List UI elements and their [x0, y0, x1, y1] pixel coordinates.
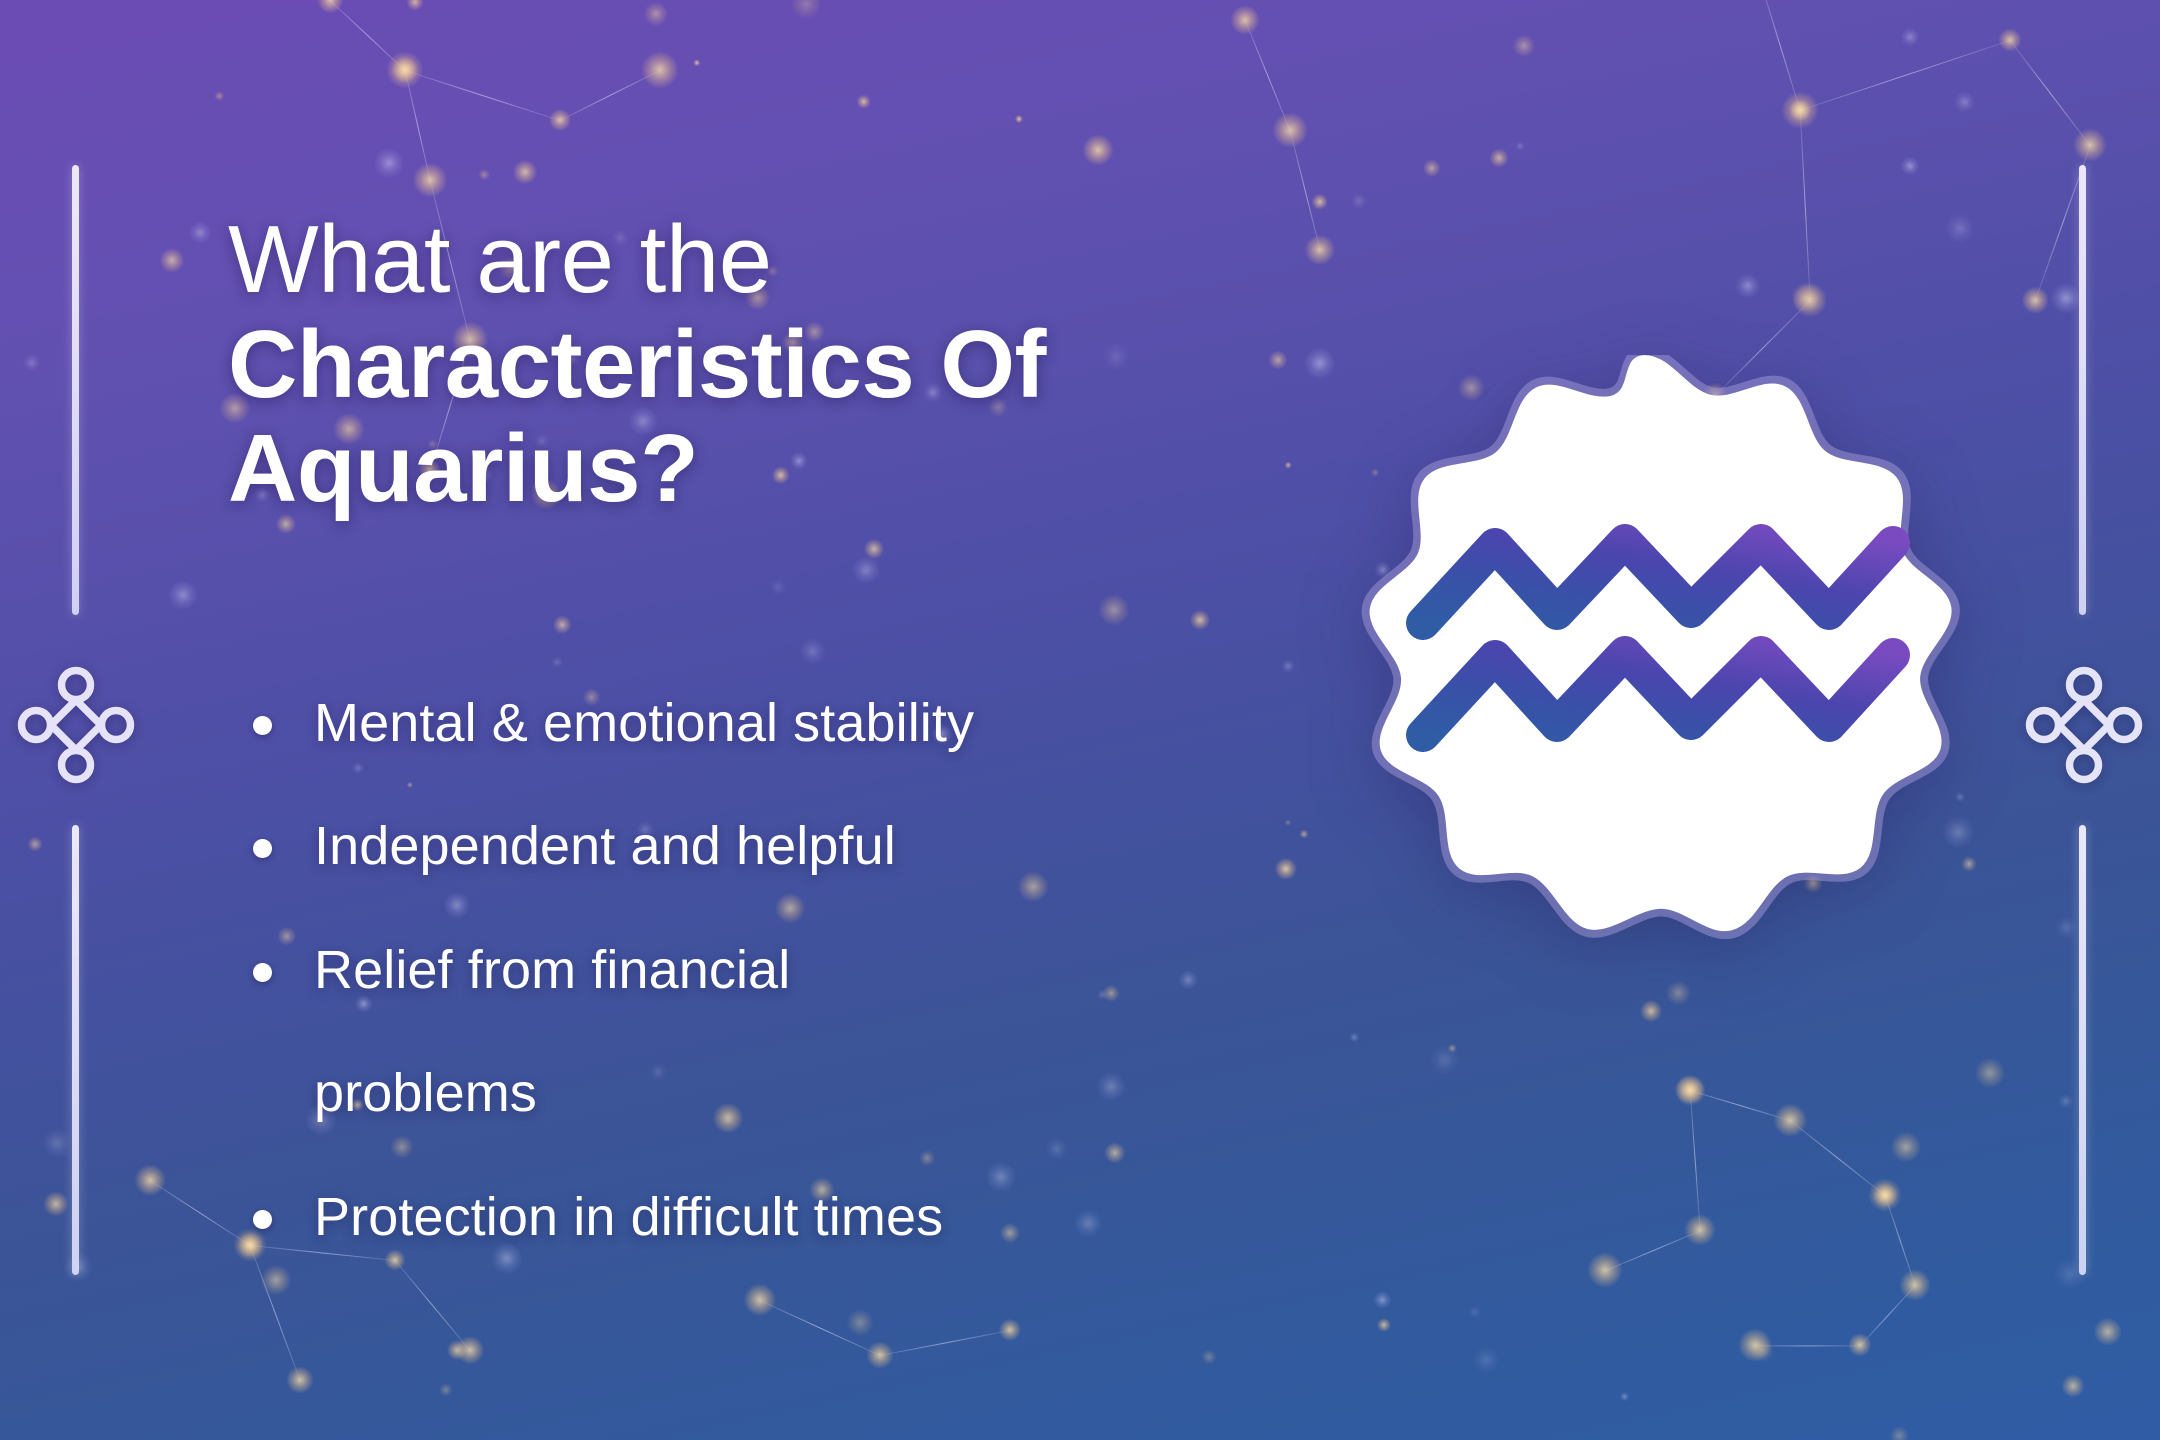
list-item-label: Protection in difficult times	[314, 1187, 943, 1247]
right-rule-bottom	[2079, 825, 2086, 1275]
list-item: Independent and helpful	[228, 803, 1348, 890]
list-item: Mental & emotional stability	[228, 680, 1348, 767]
bullet-dot-icon	[253, 716, 272, 735]
list-item: Protection in difficult times	[228, 1174, 1348, 1261]
celtic-knot-ornament-right	[2024, 665, 2144, 785]
bullet-dot-icon	[253, 963, 272, 982]
celtic-knot-ornament-left	[16, 665, 136, 785]
list-item-continuation: problems	[228, 1050, 1348, 1137]
page-title: What are the Characteristics Of Aquarius…	[228, 208, 1288, 522]
left-rule-bottom	[72, 825, 79, 1275]
bullet-dot-icon	[253, 839, 272, 858]
headline-lead: What are the	[228, 208, 1288, 313]
list-item-label: Independent and helpful	[314, 816, 896, 876]
list-item: Relief from financial	[228, 927, 1348, 1014]
headline-strong-line-2: Aquarius?	[228, 417, 1288, 522]
list-item-label: Relief from financial	[314, 940, 790, 1000]
headline-strong-line-1: Characteristics Of	[228, 313, 1288, 418]
badge-scallop-shape	[1368, 355, 1953, 933]
right-rule-top	[2079, 165, 2086, 615]
zodiac-info-slide: What are the Characteristics Of Aquarius…	[0, 0, 2160, 1440]
left-rule-top	[72, 165, 79, 615]
bullet-dot-icon	[253, 1210, 272, 1229]
aquarius-badge	[1295, 355, 1995, 1055]
list-item-label: Mental & emotional stability	[314, 693, 974, 753]
list-item-label: problems	[314, 1063, 537, 1123]
characteristics-list: Mental & emotional stability Independent…	[228, 680, 1348, 1297]
